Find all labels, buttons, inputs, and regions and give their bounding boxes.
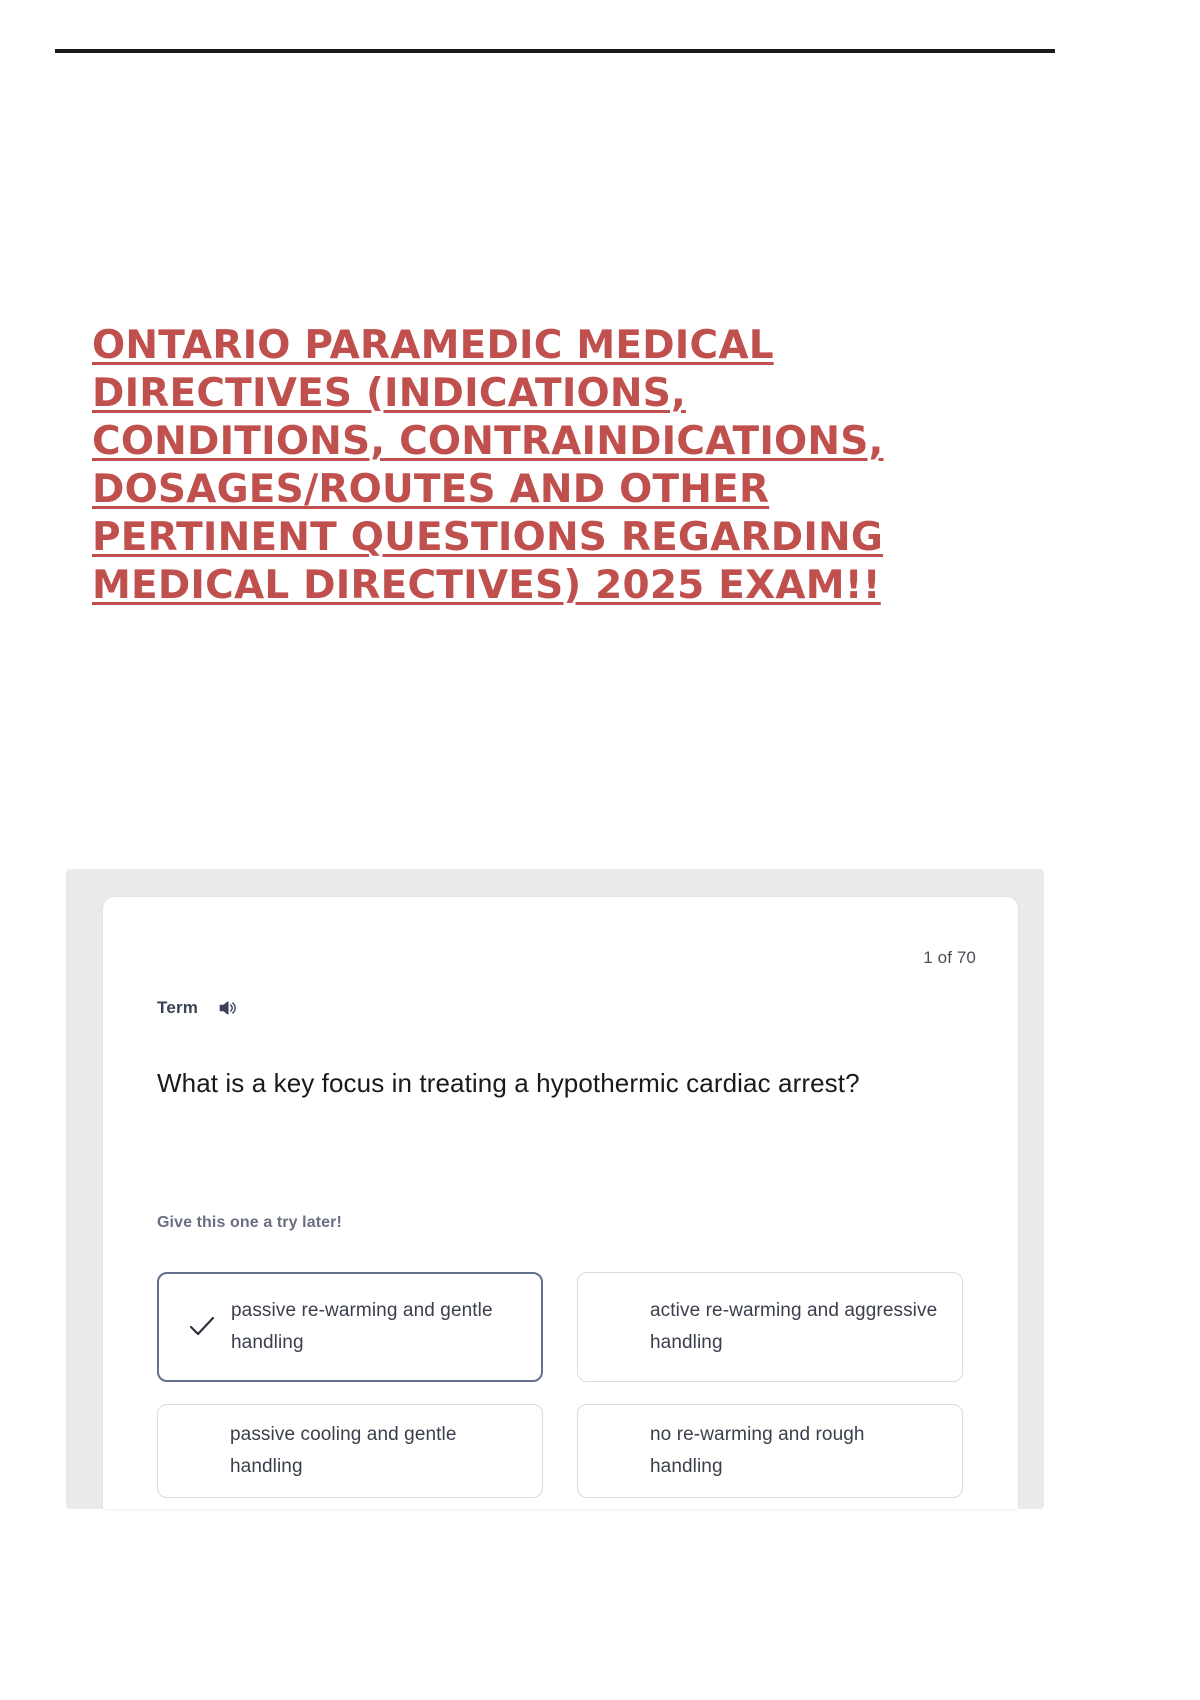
answer-option-label: active re-warming and aggressive handlin… (650, 1295, 942, 1359)
speaker-icon[interactable] (216, 997, 238, 1019)
answer-options-grid: passive re-warming and gentle handling a… (157, 1272, 963, 1498)
card-counter: 1 of 70 (923, 948, 976, 968)
question-text: What is a key focus in treating a hypoth… (157, 1065, 967, 1101)
hint-text: Give this one a try later! (157, 1214, 342, 1232)
answer-option-a[interactable]: passive re-warming and gentle handling (157, 1272, 543, 1382)
card-side-row: Term (157, 997, 238, 1019)
answer-option-label: passive cooling and gentle handling (230, 1419, 522, 1483)
page-title: ONTARIO PARAMEDIC MEDICAL DIRECTIVES (IN… (92, 322, 952, 610)
answer-option-label: no re-warming and rough handling (650, 1419, 942, 1483)
answer-option-c[interactable]: passive cooling and gentle handling (157, 1404, 543, 1498)
check-icon (181, 1310, 223, 1344)
card-side-label: Term (157, 998, 198, 1018)
answer-option-label: passive re-warming and gentle handling (231, 1295, 521, 1359)
header-divider-rule (55, 49, 1055, 53)
flashcard[interactable]: 1 of 70 Term What is a key focus in trea… (103, 897, 1018, 1509)
answer-option-d[interactable]: no re-warming and rough handling (577, 1404, 963, 1498)
flashcard-shell: 1 of 70 Term What is a key focus in trea… (66, 869, 1044, 1509)
answer-option-b[interactable]: active re-warming and aggressive handlin… (577, 1272, 963, 1382)
